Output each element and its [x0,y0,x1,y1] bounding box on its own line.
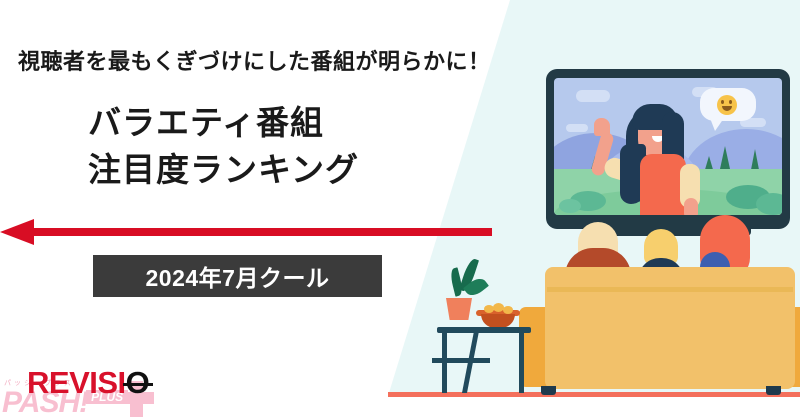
speech-bubble-tail [710,118,724,131]
bush-icon [756,193,782,215]
floor-line [388,392,800,397]
snack-item [503,306,513,314]
emoji-mouth [722,106,732,111]
pine-tree-icon [720,146,730,169]
sofa-foot [541,386,556,395]
poster-canvas: 視聴者を最もくぎづけにした番組が明らかに！ バラエティ番組 注目度ランキング 2… [0,0,800,420]
revisio-strike-line [123,383,154,386]
page-title-line-1: バラエティ番組 [88,100,508,147]
page-title-line-2: 注目度ランキング [88,147,508,194]
cloud-icon [576,90,610,102]
side-table [437,327,531,333]
sofa-foot [766,386,781,395]
bush-icon [559,199,581,213]
television-icon [546,69,790,229]
sofa-seam [547,287,793,292]
emoji-eye [729,100,732,104]
smiley-face-icon [717,95,737,115]
table-shelf [432,358,490,363]
revisio-wordmark: REVISI [27,365,126,400]
page-title: バラエティ番組 注目度ランキング [88,100,508,194]
status-badge: 2024年7月クール [93,255,382,297]
potted-plant-icon [446,298,472,320]
revisio-logo: REVISIO [27,367,149,398]
cloud-icon [566,124,588,132]
table-leg [519,331,524,393]
arrow-bar [33,228,492,236]
emoji-eye [721,100,724,104]
revisio-o-mark: O [126,367,150,398]
person-hand [684,198,698,215]
tv-screen [554,78,782,215]
arrow-left-icon [0,219,34,245]
page-headline: 視聴者を最もくぎづけにした番組が明らかに！ [18,44,488,76]
sofa-icon [545,267,795,389]
red-arrow-divider [0,219,492,245]
